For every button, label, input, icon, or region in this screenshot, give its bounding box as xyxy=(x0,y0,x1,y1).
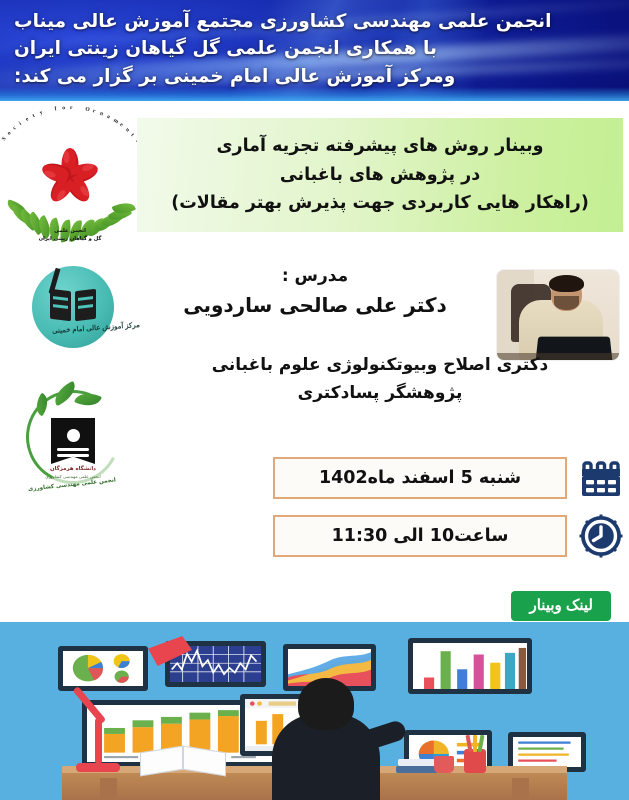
photo-hair xyxy=(549,275,584,292)
lamp-base xyxy=(76,763,120,772)
society-caption: انجمن علمی گل و گیاهان زینتی ایران xyxy=(6,228,134,244)
schedule-date-row: شنبه 5 اسفند ماه1402 xyxy=(273,456,623,500)
logo-higher-education-center: مرکز آموزش عالی امام خمینی xyxy=(6,260,134,370)
header-banner: انجمن علمی مهندسی کشاورزی مجتمع آموزش عا… xyxy=(0,0,629,101)
book-page-left xyxy=(140,746,183,777)
webinar-title-line-2: در پژوهش های باغبانی xyxy=(280,163,480,188)
schedule-section: شنبه 5 اسفند ماه1402 ساعت10 الی 11:30 xyxy=(273,456,623,558)
webinar-title-line-1: وبینار روش های پیشرفته تجزیه آماری xyxy=(216,134,543,159)
banner-line-1: انجمن علمی مهندسی کشاورزی مجتمع آموزش عا… xyxy=(14,9,551,35)
illustration-analytics-scene xyxy=(0,622,629,800)
time-value: ساعت10 الی 11:30 xyxy=(332,526,509,546)
speaker-degree: دکتری اصلاح وبیوتکنولوژی علوم باغبانی xyxy=(137,352,623,380)
logo-ornamental-plants-society: Iranian Society for Ornamental Plants ان… xyxy=(6,118,134,246)
speaker-photo xyxy=(497,270,619,360)
speaker-position-wrap: پژوهشگر پسادکتری xyxy=(137,380,623,408)
banner-line-2: با همکاری انجمن علمی گل گیاهان زینتی ایر… xyxy=(14,36,437,62)
person-analyst xyxy=(272,678,380,800)
time-box: ساعت10 الی 11:30 xyxy=(273,515,567,557)
desk-leg xyxy=(100,778,117,800)
date-value: شنبه 5 اسفند ماه1402 xyxy=(319,468,521,488)
banner-text-block: انجمن علمی مهندسی کشاورزی مجتمع آموزش عا… xyxy=(0,0,629,101)
emblem-wave xyxy=(57,448,89,451)
book-stack xyxy=(396,766,438,773)
open-book-on-desk xyxy=(140,749,226,773)
pencil-holder xyxy=(464,749,486,773)
schedule-time-row: ساعت10 الی 11:30 xyxy=(273,514,623,558)
book-page-right xyxy=(183,746,226,777)
speaker-text-block: مدرس : دکتر علی صالحی ساردویی xyxy=(137,252,493,320)
webinar-title-box: وبینار روش های پیشرفته تجزیه آماری در پژ… xyxy=(137,118,623,232)
desk-leg xyxy=(512,778,529,800)
speaker-position: پژوهشگر پسادکتری xyxy=(137,380,623,408)
emblem-dot xyxy=(67,429,80,442)
photo-beard xyxy=(554,296,579,310)
logo-column: Iranian Society for Ornamental Plants ان… xyxy=(6,110,134,535)
lamp-pole xyxy=(95,718,102,764)
speaker-degree-wrap: دکتری اصلاح وبیوتکنولوژی علوم باغبانی xyxy=(137,352,623,380)
society-caption-line-2: گل و گیاهان زینتی ایران xyxy=(6,236,134,244)
pencil-icon xyxy=(473,735,477,752)
clock-icon xyxy=(579,514,623,558)
screen-bar-chart xyxy=(408,638,532,694)
emblem-wave xyxy=(57,454,89,457)
webinar-title-line-3: (راهکار هایی کاربردی جهت پذیرش بهتر مقال… xyxy=(171,191,589,216)
logo-university-hormozgan: دانشگاه هرمزگان انجمن علمی مهندسی کشاورز… xyxy=(6,382,134,522)
center-script-text: مرکز آموزش عالی امام خمینی xyxy=(40,320,152,336)
book-page-right xyxy=(75,289,96,322)
book-page-left xyxy=(50,289,71,322)
person-head xyxy=(298,678,354,730)
speaker-role-label: مدرس : xyxy=(137,252,493,290)
coffee-cup xyxy=(434,756,454,773)
university-name: دانشگاه هرمزگان xyxy=(36,466,110,472)
speaker-name: دکتر علی صالحی ساردویی xyxy=(137,290,493,320)
calendar-icon xyxy=(579,456,623,500)
screen-pie-charts xyxy=(58,646,148,691)
leaf-wreath-icon xyxy=(10,170,130,222)
teal-circle-badge: مرکز آموزش عالی امام خمینی xyxy=(32,266,114,348)
banner-line-3: ومرکز آموزش عالی امام خمینی بر گزار می ک… xyxy=(14,64,455,90)
open-book-icon xyxy=(50,290,96,320)
speaker-section: مدرس : دکتر علی صالحی ساردویی دکتری اصلا… xyxy=(137,252,623,412)
book-stack xyxy=(398,759,436,766)
webinar-link-button[interactable]: لینک وبینار xyxy=(511,591,611,621)
date-box: شنبه 5 اسفند ماه1402 xyxy=(273,457,567,499)
